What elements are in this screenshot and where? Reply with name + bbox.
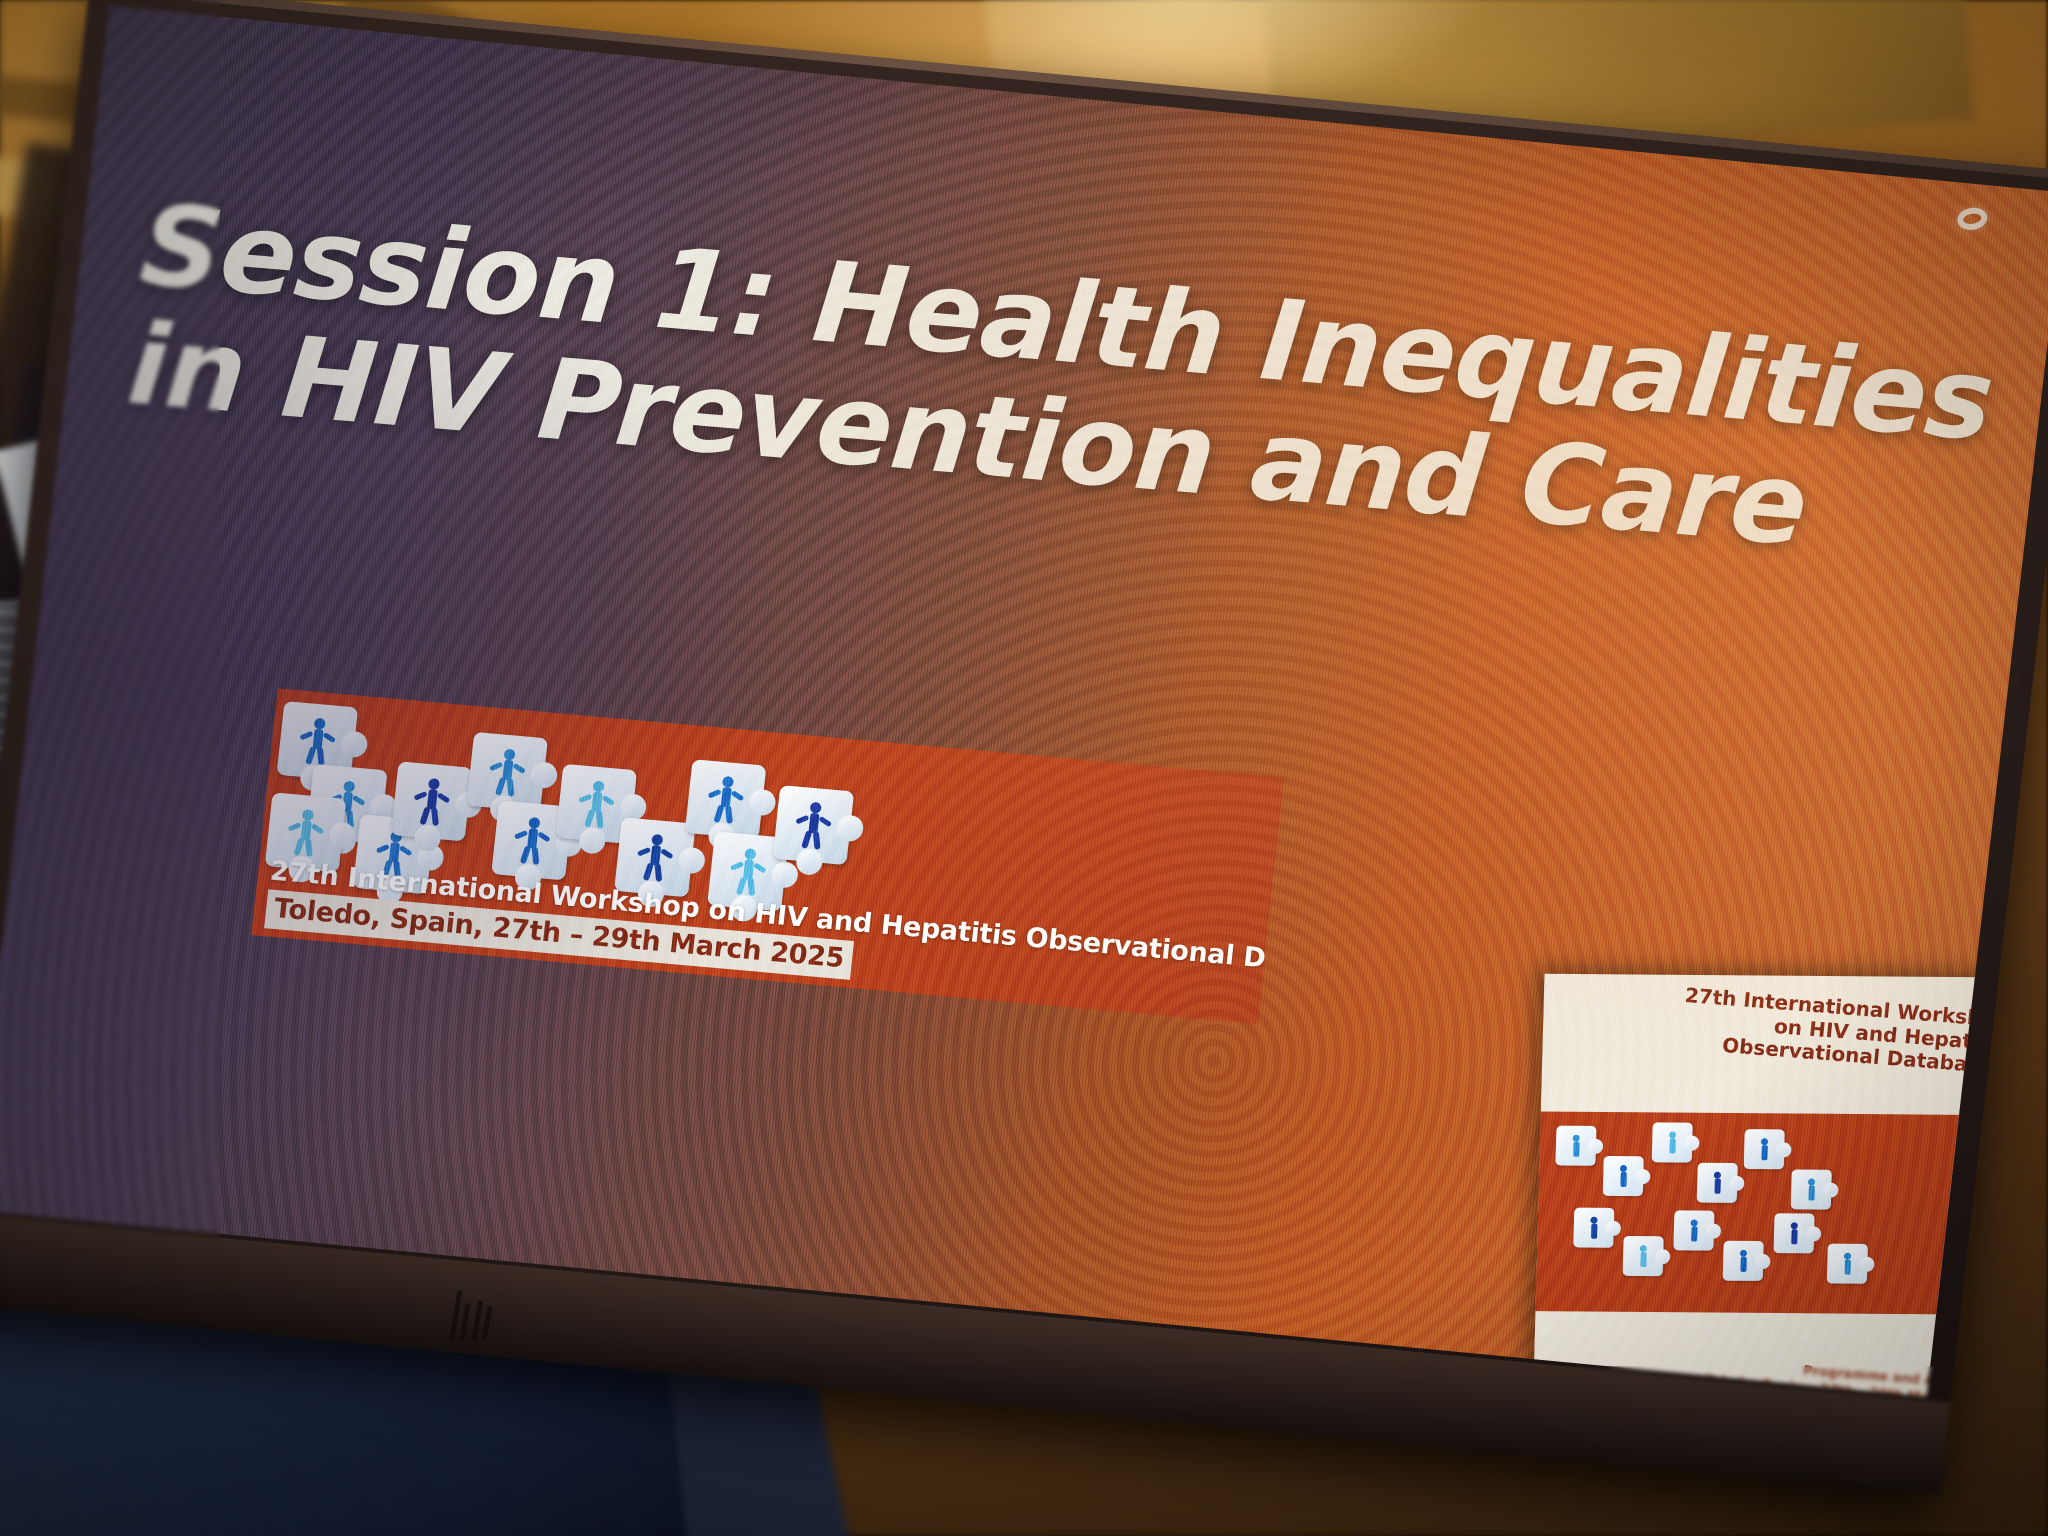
presentation-slide: Session 1: Health Inequalities in HIV Pr… [0, 6, 2048, 1397]
programme-book: 27th International Workshop on HIV and H… [1533, 974, 2015, 1397]
photo-scene: Session 1: Health Inequalities in HIV Pr… [0, 0, 2048, 1536]
puzzle-piece-icon [772, 785, 854, 865]
ring-marker-icon [1956, 206, 1989, 232]
puzzle-piece-icon [1673, 1210, 1714, 1250]
puzzle-piece-icon [466, 732, 548, 812]
hp-logo-icon [442, 1288, 508, 1345]
puzzle-piece-icon [1652, 1122, 1693, 1162]
monitor: Session 1: Health Inequalities in HIV Pr… [0, 0, 2048, 1494]
programme-book-artwork [1533, 1111, 2015, 1315]
puzzle-piece-icon [1827, 1244, 1868, 1284]
conference-banner: 27th International Workshop on HIV and H… [251, 688, 1284, 1023]
puzzle-piece-icon [1744, 1129, 1785, 1169]
monitor-screen: Session 1: Health Inequalities in HIV Pr… [0, 6, 2048, 1397]
puzzle-piece-icon [614, 817, 696, 897]
puzzle-piece-icon [1697, 1163, 1738, 1203]
puzzle-piece-icon [685, 759, 767, 839]
puzzle-piece-icon [391, 761, 473, 841]
puzzle-piece-icon [1623, 1236, 1664, 1276]
puzzle-piece-icon [1723, 1241, 1764, 1281]
slide-title: Session 1: Health Inequalities in HIV Pr… [123, 188, 1643, 548]
puzzle-piece-icon [1555, 1126, 1596, 1166]
puzzle-piece-icon [1573, 1208, 1614, 1248]
programme-book-header: 27th International Workshop on HIV and H… [1555, 974, 2011, 1079]
puzzle-piece-icon [1773, 1213, 1814, 1253]
puzzle-piece-icon [1603, 1156, 1644, 1196]
puzzle-piece-icon [1791, 1169, 1832, 1209]
